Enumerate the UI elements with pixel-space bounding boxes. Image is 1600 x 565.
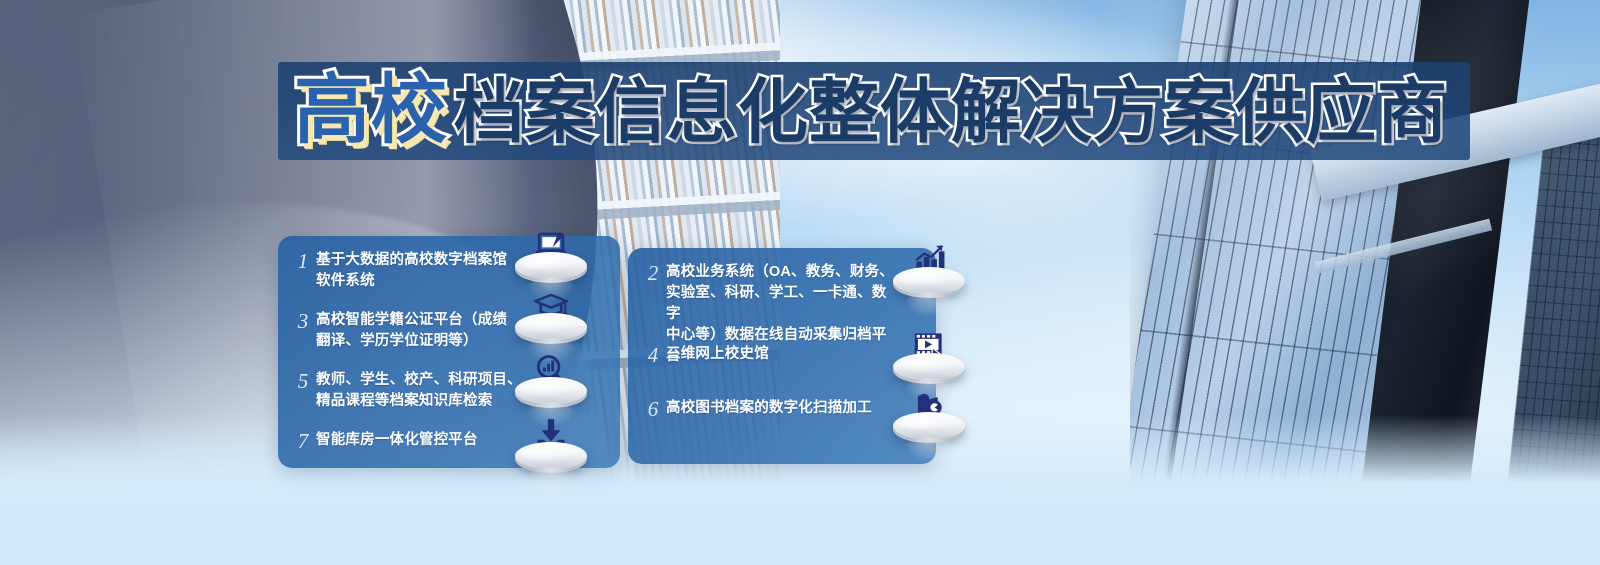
item-number: 5 [290, 371, 316, 391]
item-number: 2 [640, 263, 666, 283]
puck-disc [893, 353, 965, 381]
item-number: 6 [640, 399, 666, 419]
title-highlight-word: 高校 [294, 73, 448, 149]
icon-puck-2[interactable] [893, 243, 965, 303]
icon-puck-3[interactable] [515, 289, 587, 349]
list-item[interactable]: 1 基于大数据的高校数字档案馆 软件系统 [290, 250, 540, 292]
item-number: 3 [290, 311, 316, 331]
puck-disc [515, 252, 587, 280]
banner-root: 高校 档案信息化整体解决方案供应商 1 基于大数据的高校数字档案馆 软件系统 3… [0, 0, 1600, 565]
item-number: 7 [290, 431, 316, 451]
list-item[interactable]: 6 高校图书档案的数字化扫描加工 [640, 398, 898, 419]
puck-disc [893, 412, 965, 440]
puck-reflection [903, 293, 955, 317]
solutions-list-right: 2 高校业务系统（OA、教务、财务、 实验室、科研、学工、一卡通、数字 中心等）… [628, 248, 936, 464]
puck-disc [515, 313, 587, 341]
list-item[interactable]: 3 高校智能学籍公证平台（成绩 翻译、学历学位证明等） [290, 310, 540, 352]
item-label: 智能库房一体化管控平台 [316, 430, 478, 451]
icon-puck-7[interactable] [515, 418, 587, 478]
title-rest: 档案信息化整体解决方案供应商 [454, 77, 1448, 147]
item-number: 1 [290, 251, 316, 271]
item-label: 基于大数据的高校数字档案馆 软件系统 [316, 250, 507, 292]
icon-puck-6[interactable] [893, 388, 965, 448]
item-label: 三维网上校史馆 [666, 344, 769, 365]
solutions-panel-right: 2 高校业务系统（OA、教务、财务、 实验室、科研、学工、一卡通、数字 中心等）… [628, 248, 936, 464]
puck-disc [515, 442, 587, 470]
puck-reflection [903, 438, 955, 462]
icon-puck-5[interactable] [515, 353, 587, 413]
puck-disc [515, 377, 587, 405]
list-item[interactable]: 5 教师、学生、校产、科研项目、 精品课程等档案知识库检索 [290, 370, 552, 412]
icon-puck-4[interactable] [893, 329, 965, 389]
list-item[interactable]: 7 智能库房一体化管控平台 [290, 430, 540, 451]
puck-disc [893, 267, 965, 295]
item-label: 教师、学生、校产、科研项目、 精品课程等档案知识库检索 [316, 370, 522, 412]
page-title: 高校 档案信息化整体解决方案供应商 [294, 73, 1448, 149]
list-item[interactable]: 4 三维网上校史馆 [640, 344, 898, 365]
title-bar: 高校 档案信息化整体解决方案供应商 [278, 62, 1470, 160]
item-number: 4 [640, 345, 666, 365]
puck-reflection [525, 468, 577, 492]
icon-puck-1[interactable] [515, 228, 587, 288]
item-label: 高校智能学籍公证平台（成绩 翻译、学历学位证明等） [316, 310, 507, 352]
item-label: 高校图书档案的数字化扫描加工 [666, 398, 872, 419]
